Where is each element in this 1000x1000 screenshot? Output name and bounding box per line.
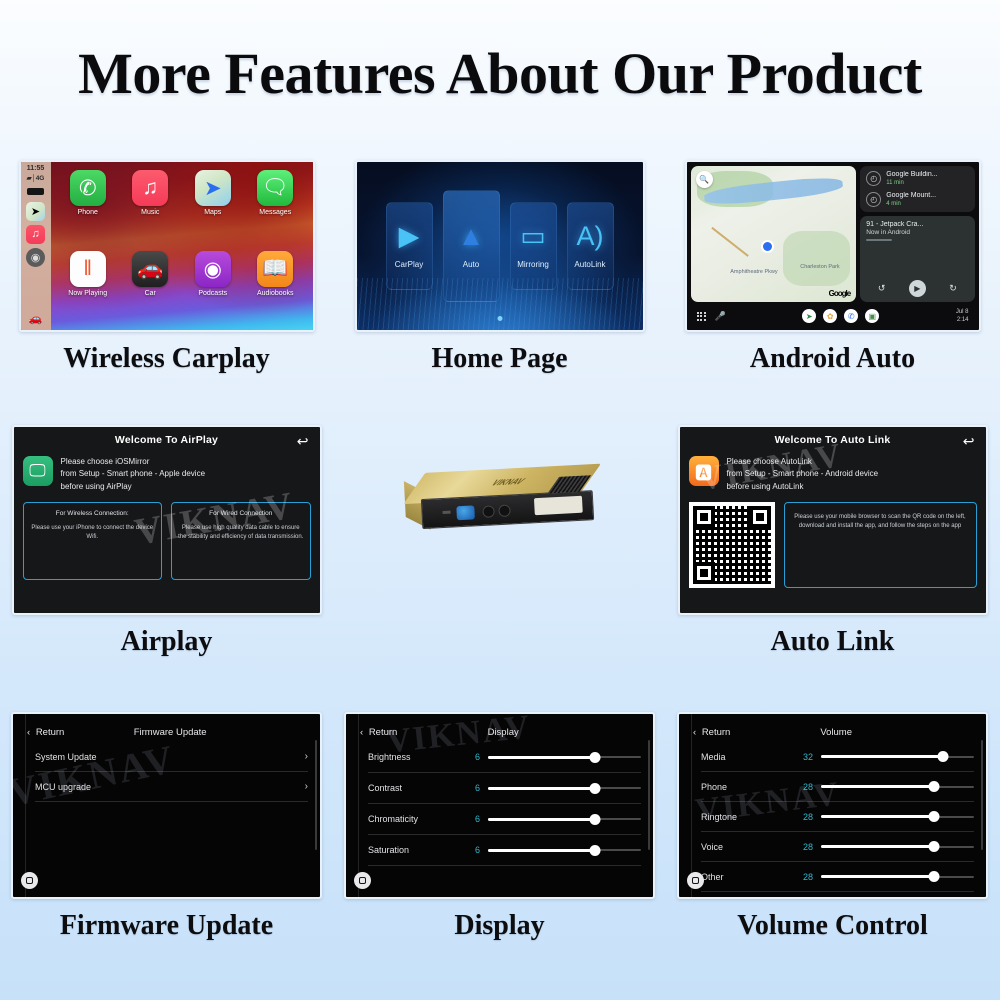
wireless-connection-box: For Wireless Connection: Please use your… xyxy=(23,502,163,580)
setting-value: 28 xyxy=(795,872,813,882)
app-label: Podcasts xyxy=(198,290,227,297)
slider-knob[interactable] xyxy=(929,781,940,792)
setting-label: Saturation xyxy=(368,845,454,855)
setting-slider[interactable] xyxy=(821,781,974,792)
setting-row[interactable]: Media32 xyxy=(701,742,974,772)
setting-label: Other xyxy=(701,872,787,882)
blue-connector-port xyxy=(456,505,475,520)
feature-cell-android-auto: 🔍 Amphitheatre Pkwy Charleston Park Goog… xyxy=(666,160,999,375)
back-arrow-icon[interactable]: ↩ xyxy=(963,433,975,450)
screen-title: Display xyxy=(397,727,609,738)
slider-knob[interactable] xyxy=(590,783,601,794)
tile-label: AutoLink xyxy=(574,260,605,269)
carplay-app[interactable]: 🗨 Messages xyxy=(244,170,307,245)
page-indicator-dot xyxy=(497,316,502,321)
music-icon: ♫ xyxy=(132,170,168,206)
feature-cell-volume-control: ‹ Return Volume Media32Phone28Ringtone28… xyxy=(666,712,999,942)
return-button[interactable]: ‹ Return xyxy=(693,727,730,738)
led-indicator xyxy=(442,511,450,514)
carplay-app[interactable]: ✆ Phone xyxy=(57,170,120,245)
feature-cell-product-box: VIKNAV xyxy=(333,425,666,658)
setting-slider[interactable] xyxy=(821,751,974,762)
carplay-app[interactable]: 📖 Audiobooks xyxy=(244,251,307,326)
setting-row[interactable]: Voice28 xyxy=(701,832,974,862)
setting-label: Brightness xyxy=(368,752,454,762)
maps-icon[interactable]: ➤ xyxy=(802,309,816,323)
carplay-app[interactable]: ➤ Maps xyxy=(182,170,245,245)
cell-caption: Firmware Update xyxy=(60,910,273,942)
suggestion-card: ◴ Google Buildin... 11 min ◴ Google Moun… xyxy=(860,166,974,212)
current-location-dot xyxy=(763,242,772,251)
carplay-icon: ▶ xyxy=(399,223,420,250)
divider xyxy=(691,714,692,897)
app-label: Phone xyxy=(78,209,98,216)
setting-label: Phone xyxy=(701,782,787,792)
android-auto-screenshot: 🔍 Amphitheatre Pkwy Charleston Park Goog… xyxy=(685,160,981,332)
note-body: Please use your mobile browser to scan t… xyxy=(792,513,969,532)
tile-label: Mirroring xyxy=(517,260,549,269)
setting-value: 28 xyxy=(795,782,813,792)
setting-row[interactable]: Contrast6 xyxy=(368,773,641,804)
sidebar-maps-icon[interactable]: ➤ xyxy=(26,202,45,221)
setting-slider[interactable] xyxy=(488,814,641,825)
slider-fill xyxy=(821,875,934,878)
autolink-note-box: Please use your mobile browser to scan t… xyxy=(784,502,977,588)
maps-icon: ➤ xyxy=(195,170,231,206)
white-connector-port xyxy=(533,496,582,515)
cell-caption: Display xyxy=(454,910,544,942)
cell-caption: Home Page xyxy=(431,343,567,375)
android-auto-dock: 🎤 ➤ ✿ ✆ ▣ Jul 8 2:14 xyxy=(691,306,975,326)
qr-eye xyxy=(749,506,771,528)
scrollbar[interactable] xyxy=(648,740,650,850)
cell-caption: Airplay xyxy=(121,626,213,658)
cell-caption: Volume Control xyxy=(737,910,928,942)
auto-icon: ▲ xyxy=(458,223,485,250)
app-label: Audiobooks xyxy=(257,290,294,297)
scrollbar[interactable] xyxy=(981,740,983,850)
battery-icon xyxy=(27,188,44,195)
home-tile-mirroring[interactable]: ▭ Mirroring xyxy=(510,202,557,290)
box-title: For Wired Connection xyxy=(178,510,304,517)
home-button[interactable] xyxy=(687,872,704,889)
feature-row-2: Welcome To AirPlay ↩ 🖵 Please choose iOS… xyxy=(0,425,1000,658)
suggestion-eta: 4 min xyxy=(886,201,936,207)
setting-label: Chromaticity xyxy=(368,814,454,824)
map-green-area xyxy=(783,231,849,285)
setting-slider[interactable] xyxy=(488,752,641,763)
suggestion-item[interactable]: ◴ Google Mount... 4 min xyxy=(866,192,968,207)
setting-label: Voice xyxy=(701,842,787,852)
app-label: Car xyxy=(145,290,156,297)
carplay-status-time: 11:55 xyxy=(27,165,45,172)
media-progress-bar xyxy=(866,239,892,241)
airplay-mirror-icon: 🖵 xyxy=(23,456,53,486)
podcasts-icon: ◉ xyxy=(195,251,231,287)
round-port xyxy=(498,504,511,517)
home-button[interactable] xyxy=(354,872,371,889)
slider-knob[interactable] xyxy=(929,871,940,882)
feature-cell-home-page: ▶ CarPlay ▲ Auto ▭ Mirroring A) AutoLink… xyxy=(333,160,666,375)
airplay-instruction: Please choose iOSMirror from Setup - Sma… xyxy=(61,456,206,493)
suggestion-eta: 11 min xyxy=(886,180,937,186)
feature-cell-firmware-update: ‹ Return Firmware Update System Update ›… xyxy=(0,712,333,942)
box-body: Please use high quality data cable to en… xyxy=(178,524,304,543)
home-button[interactable] xyxy=(21,872,38,889)
return-button[interactable]: ‹ Return xyxy=(360,727,397,738)
phone-icon[interactable]: ✆ xyxy=(844,309,858,323)
volume-settings-screenshot: ‹ Return Volume Media32Phone28Ringtone28… xyxy=(677,712,988,899)
slider-knob[interactable] xyxy=(938,751,949,762)
media-title: 91 - Jetpack Cra... xyxy=(866,221,968,228)
setting-value: 6 xyxy=(462,783,480,793)
forward-icon[interactable]: ↻ xyxy=(949,283,957,294)
app-label: Music xyxy=(141,209,159,216)
status-clock: Jul 8 2:14 xyxy=(956,308,969,324)
carplay-app[interactable]: ‖ Now Playing xyxy=(57,251,120,326)
autolink-icon: A) xyxy=(577,223,604,250)
carplay-app[interactable]: ◉ Podcasts xyxy=(182,251,245,326)
slider-knob[interactable] xyxy=(929,841,940,852)
qr-eye xyxy=(693,506,715,528)
autolink-app-icon: 🅰 xyxy=(689,456,719,486)
slider-knob[interactable] xyxy=(590,752,601,763)
box-body: Please use your iPhone to connect the de… xyxy=(30,524,156,543)
wave-decoration xyxy=(357,278,643,330)
slider-fill xyxy=(488,756,595,759)
product-logo: VIKNAV xyxy=(488,477,527,488)
divider xyxy=(358,714,359,897)
feature-row-1: 11:55 ▰│4G ➤ ♫ ◉ 🚗 ✆ Phone ♫ Music xyxy=(0,160,1000,375)
carplay-status-signal: ▰│4G xyxy=(27,176,45,183)
firmware-update-screenshot: ‹ Return Firmware Update System Update ›… xyxy=(11,712,322,899)
apps-grid-icon[interactable] xyxy=(697,312,706,321)
slider-fill xyxy=(821,785,934,788)
setting-slider[interactable] xyxy=(821,871,974,882)
scrollbar[interactable] xyxy=(315,740,317,850)
cell-caption: Auto Link xyxy=(771,626,895,658)
setting-value: 28 xyxy=(795,842,813,852)
feature-cell-airplay: Welcome To AirPlay ↩ 🖵 Please choose iOS… xyxy=(0,425,333,658)
slider-fill xyxy=(488,818,595,821)
app-label: Now Playing xyxy=(68,290,107,297)
airplay-header: Welcome To AirPlay xyxy=(23,434,311,446)
setting-value: 28 xyxy=(795,812,813,822)
setting-label: Media xyxy=(701,752,787,762)
app-label: Messages xyxy=(259,209,291,216)
page-title: More Features About Our Product xyxy=(0,40,1000,107)
slider-fill xyxy=(821,815,934,818)
product-box-image: VIKNAV xyxy=(385,425,615,575)
qr-code xyxy=(689,502,775,588)
messages-icon: 🗨 xyxy=(257,170,293,206)
setting-slider[interactable] xyxy=(488,783,641,794)
cell-caption: Android Auto xyxy=(750,343,915,375)
suggestion-item[interactable]: ◴ Google Buildin... 11 min xyxy=(866,171,968,186)
wired-connection-box: For Wired Connection Please use high qua… xyxy=(171,502,311,580)
round-port xyxy=(482,505,495,518)
carplay-screenshot: 11:55 ▰│4G ➤ ♫ ◉ 🚗 ✆ Phone ♫ Music xyxy=(19,160,315,332)
setting-row[interactable]: Other28 xyxy=(701,862,974,892)
slider-fill xyxy=(488,849,595,852)
setting-value: 32 xyxy=(795,752,813,762)
setting-value: 6 xyxy=(462,814,480,824)
slider-fill xyxy=(488,787,595,790)
car-icon: 🚗 xyxy=(132,251,168,287)
cell-caption: Wireless Carplay xyxy=(63,343,270,375)
setting-label: Ringtone xyxy=(701,812,787,822)
slider-knob[interactable] xyxy=(929,811,940,822)
carplay-home-grid: ✆ Phone ♫ Music ➤ Maps 🗨 Messages xyxy=(51,162,313,330)
media-icon[interactable]: ▣ xyxy=(865,309,879,323)
return-button[interactable]: ‹ Return xyxy=(27,727,64,738)
chevron-right-icon: › xyxy=(305,751,308,762)
setting-slider[interactable] xyxy=(488,845,641,856)
tile-label: CarPlay xyxy=(395,260,423,269)
item-label: System Update xyxy=(35,752,97,762)
home-page-screenshot: ▶ CarPlay ▲ Auto ▭ Mirroring A) AutoLink xyxy=(355,160,645,332)
carplay-app[interactable]: 🚗 Car xyxy=(119,251,182,326)
feature-row-3: ‹ Return Firmware Update System Update ›… xyxy=(0,712,1000,942)
media-subtitle: Now in Android xyxy=(866,229,968,236)
sidebar-music-icon[interactable]: ♫ xyxy=(26,225,45,244)
tile-label: Auto xyxy=(463,260,479,269)
slider-fill xyxy=(821,845,934,848)
suggestion-title: Google Buildin... xyxy=(886,171,937,180)
setting-value: 6 xyxy=(462,752,480,762)
mic-icon[interactable]: 🎤 xyxy=(715,311,726,322)
google-logo: Google xyxy=(829,289,851,298)
setting-row[interactable]: Saturation6 xyxy=(368,835,641,866)
app-label: Maps xyxy=(204,209,221,216)
clock-sub: Jul 8 xyxy=(956,308,969,316)
setting-slider[interactable] xyxy=(821,811,974,822)
clock-icon: ◴ xyxy=(866,192,881,207)
sidebar-car-icon[interactable]: 🚗 xyxy=(29,312,43,325)
slider-knob[interactable] xyxy=(590,845,601,856)
back-arrow-icon[interactable]: ↩ xyxy=(297,433,309,450)
clock-time: 2:14 xyxy=(956,316,969,324)
autolink-instruction: Please choose AutoLink from Setup - Smar… xyxy=(727,456,879,493)
audiobooks-icon: 📖 xyxy=(257,251,293,287)
feature-cell-auto-link: Welcome To Auto Link ↩ 🅰 Please choose A… xyxy=(666,425,999,658)
assistant-icon[interactable]: ✿ xyxy=(823,309,837,323)
rewind-icon[interactable]: ↺ xyxy=(878,283,886,294)
feature-cell-wireless-carplay: 11:55 ▰│4G ➤ ♫ ◉ 🚗 ✆ Phone ♫ Music xyxy=(0,160,333,375)
setting-row[interactable]: Ringtone28 xyxy=(701,802,974,832)
map-search-icon[interactable]: 🔍 xyxy=(696,171,713,188)
airplay-screenshot: Welcome To AirPlay ↩ 🖵 Please choose iOS… xyxy=(12,425,322,615)
carplay-app[interactable]: ♫ Music xyxy=(119,170,182,245)
setting-row[interactable]: Phone28 xyxy=(701,772,974,802)
sidebar-podcasts-icon[interactable]: ◉ xyxy=(26,248,45,267)
autolink-header: Welcome To Auto Link xyxy=(689,434,977,446)
box-title: For Wireless Connection: xyxy=(30,510,156,517)
setting-row[interactable]: Brightness6 xyxy=(368,742,641,773)
phone-icon: ✆ xyxy=(70,170,106,206)
setting-label: Contrast xyxy=(368,783,454,793)
screen-title: Volume xyxy=(730,727,942,738)
qr-eye xyxy=(693,562,715,584)
suggestion-title: Google Mount... xyxy=(886,192,936,201)
map-view[interactable]: 🔍 Amphitheatre Pkwy Charleston Park Goog… xyxy=(691,166,857,302)
divider xyxy=(25,714,26,897)
home-tile-carplay[interactable]: ▶ CarPlay xyxy=(386,202,433,290)
clock-icon: ◴ xyxy=(866,171,881,186)
slider-fill xyxy=(821,755,943,758)
carplay-sidebar: 11:55 ▰│4G ➤ ♫ ◉ 🚗 xyxy=(21,162,51,330)
setting-value: 6 xyxy=(462,845,480,855)
feature-cell-display: ‹ Return Display Brightness6Contrast6Chr… xyxy=(333,712,666,942)
menu-item-system-update[interactable]: System Update › xyxy=(35,742,308,772)
home-tile-autolink[interactable]: A) AutoLink xyxy=(567,202,614,290)
mirroring-icon: ▭ xyxy=(520,223,546,250)
display-settings-screenshot: ‹ Return Display Brightness6Contrast6Chr… xyxy=(344,712,655,899)
map-label: Charleston Park xyxy=(800,264,839,270)
autolink-screenshot: Welcome To Auto Link ↩ 🅰 Please choose A… xyxy=(678,425,988,615)
map-road xyxy=(711,227,749,257)
play-button[interactable]: ▶ xyxy=(909,280,926,297)
now-playing-icon: ‖ xyxy=(70,251,106,287)
screen-title: Firmware Update xyxy=(64,727,276,738)
menu-item-mcu-upgrade[interactable]: MCU upgrade › xyxy=(35,772,308,802)
setting-row[interactable]: Chromaticity6 xyxy=(368,804,641,835)
slider-knob[interactable] xyxy=(590,814,601,825)
media-card: 91 - Jetpack Cra... Now in Android ↺ ▶ ↻ xyxy=(860,216,974,302)
map-label: Amphitheatre Pkwy xyxy=(730,269,777,275)
chevron-right-icon: › xyxy=(305,781,308,792)
item-label: MCU upgrade xyxy=(35,782,91,792)
setting-slider[interactable] xyxy=(821,841,974,852)
